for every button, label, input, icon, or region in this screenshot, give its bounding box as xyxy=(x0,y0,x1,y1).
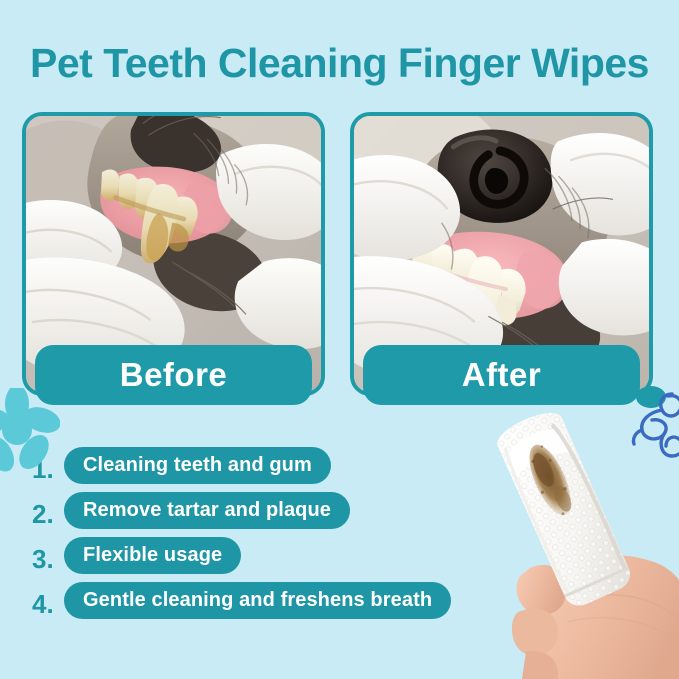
after-label-text: After xyxy=(462,356,542,394)
list-item-label: Cleaning teeth and gum xyxy=(64,447,331,484)
list-item-label: Gentle cleaning and freshens breath xyxy=(64,582,451,619)
list-item: 4. Gentle cleaning and freshens breath xyxy=(28,581,498,619)
list-item-number: 3. xyxy=(28,544,64,574)
infographic-page: Pet Teeth Cleaning Finger Wipes xyxy=(0,0,679,679)
list-item: 3. Flexible usage xyxy=(28,536,498,574)
list-item-label: Flexible usage xyxy=(64,537,241,574)
list-item-label: Remove tartar and plaque xyxy=(64,492,350,529)
list-item: 1. Cleaning teeth and gum xyxy=(28,446,498,484)
before-label-text: Before xyxy=(120,356,228,394)
feature-list: 1. Cleaning teeth and gum 2. Remove tart… xyxy=(28,446,498,626)
before-label-banner: Before xyxy=(35,345,312,405)
finger-wipe-product-photo xyxy=(468,408,679,679)
after-label-banner: After xyxy=(363,345,640,405)
list-item: 2. Remove tartar and plaque xyxy=(28,491,498,529)
page-title: Pet Teeth Cleaning Finger Wipes xyxy=(0,40,679,87)
list-item-number: 4. xyxy=(28,589,64,619)
list-item-number: 2. xyxy=(28,499,64,529)
